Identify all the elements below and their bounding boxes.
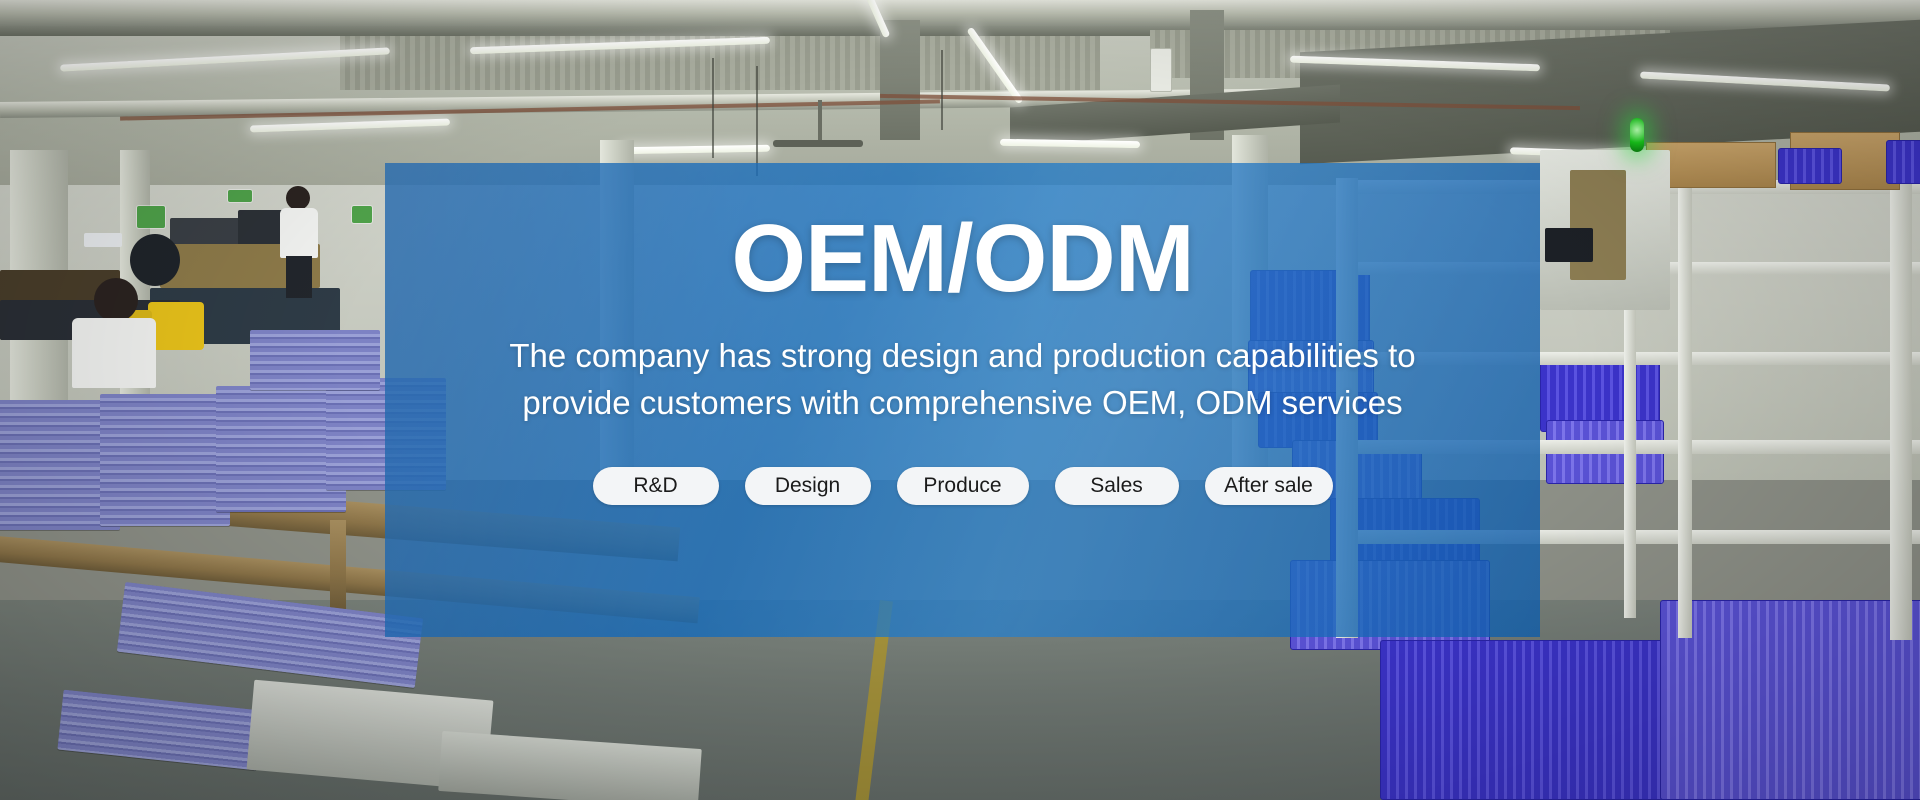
hero-overlay-panel: OEM/ODM The company has strong design an… — [385, 163, 1540, 637]
service-pill-rnd[interactable]: R&D — [593, 467, 719, 505]
service-pill-row: R&D Design Produce Sales After sale — [593, 467, 1333, 505]
service-pill-produce[interactable]: Produce — [897, 467, 1029, 505]
service-pill-design[interactable]: Design — [745, 467, 871, 505]
oem-odm-hero-banner: OEM/ODM The company has strong design an… — [0, 0, 1920, 800]
service-pill-after-sale[interactable]: After sale — [1205, 467, 1333, 505]
hero-subtitle-line-1: The company has strong design and produc… — [443, 333, 1483, 380]
hero-subtitle-line-2: provide customers with comprehensive OEM… — [443, 380, 1483, 427]
service-pill-sales[interactable]: Sales — [1055, 467, 1179, 505]
hero-subtitle: The company has strong design and produc… — [443, 333, 1483, 427]
page-title: OEM/ODM — [731, 211, 1193, 307]
